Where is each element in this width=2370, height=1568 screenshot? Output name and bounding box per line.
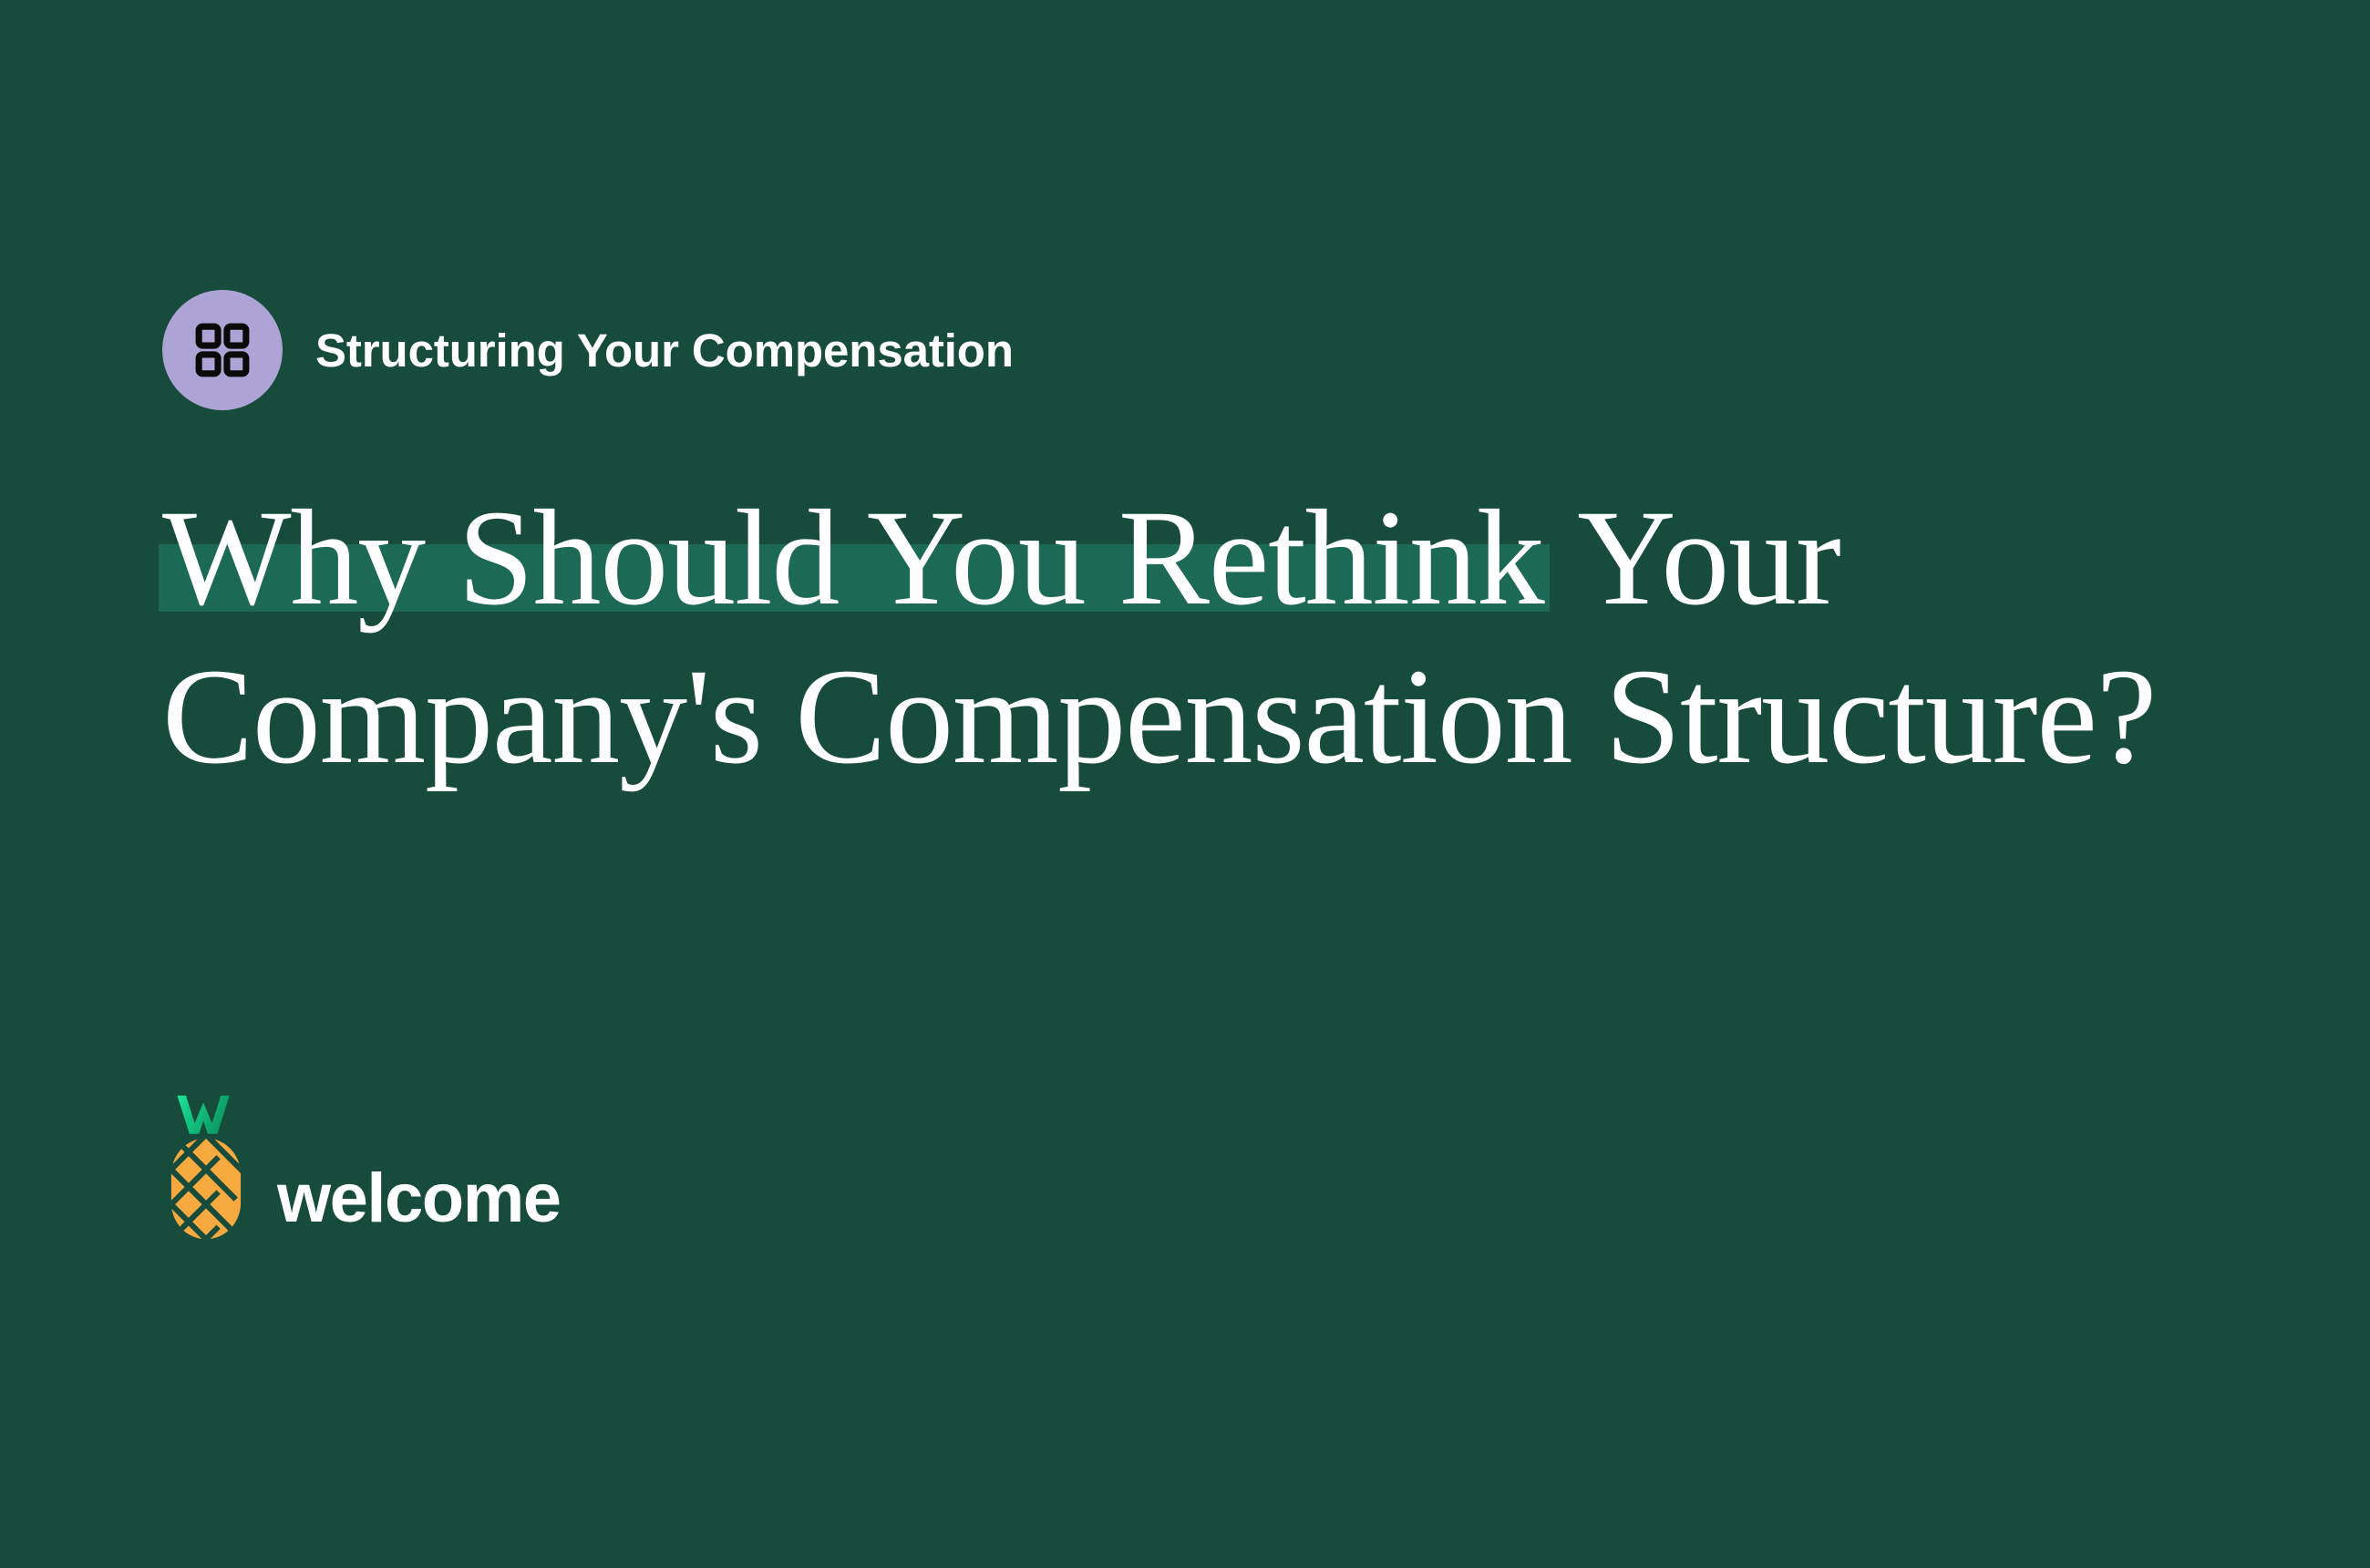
brand-lockup: welcome bbox=[164, 1089, 561, 1246]
headline-highlight: Why Should You Rethink bbox=[159, 482, 1550, 634]
social-card: Structuring Your Compensation Why Should… bbox=[0, 0, 2370, 1568]
headline-line-1-rest: Your bbox=[1550, 482, 1840, 634]
grid-2x2-icon bbox=[192, 320, 252, 380]
page-title: Why Should You Rethink Your Company's Co… bbox=[162, 479, 2149, 796]
headline-line-1: Why Should You Rethink Your bbox=[162, 479, 2149, 637]
eyebrow-label: Structuring Your Compensation bbox=[315, 327, 1014, 374]
pineapple-logo-icon bbox=[164, 1089, 248, 1246]
category-badge bbox=[162, 290, 283, 410]
brand-wordmark: welcome bbox=[277, 1164, 561, 1246]
eyebrow-row: Structuring Your Compensation bbox=[162, 290, 1014, 410]
headline-line-2: Company's Compensation Structure? bbox=[162, 637, 2149, 796]
